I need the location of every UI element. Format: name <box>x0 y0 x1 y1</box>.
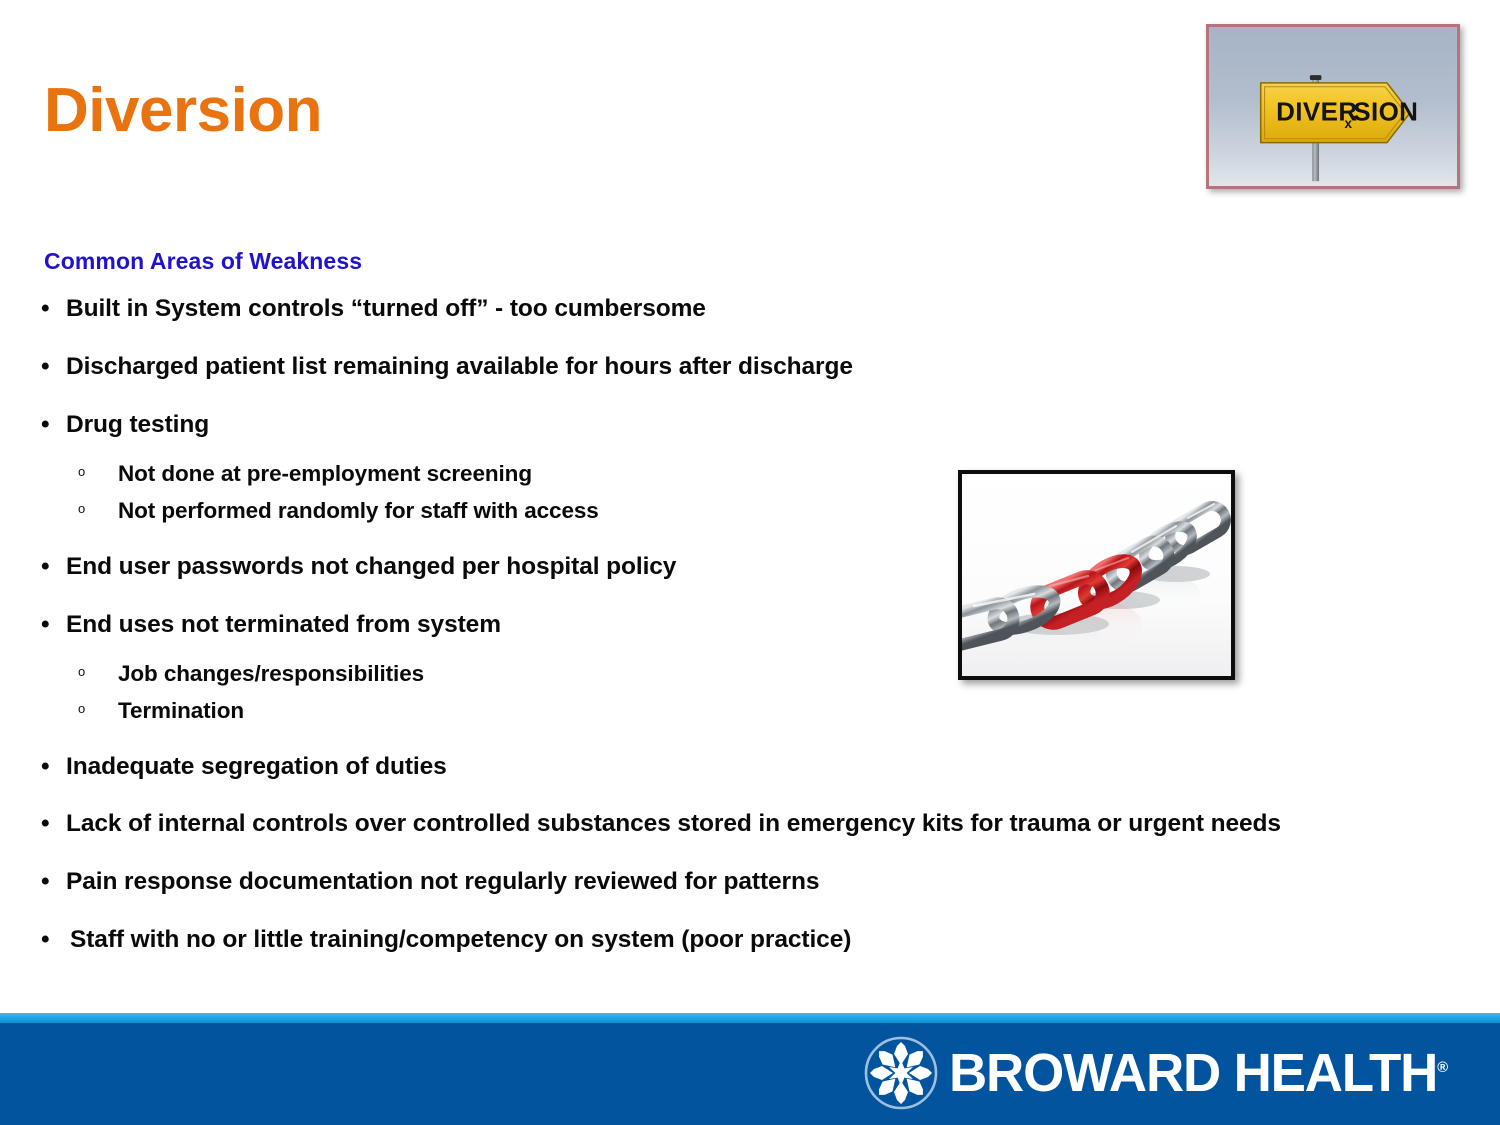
bullet-marker: • <box>41 810 49 839</box>
chain-weak-link-image <box>958 470 1235 680</box>
bullet-item: • Staff with no or little training/compe… <box>36 926 1456 955</box>
bullet-text: Built in System controls “turned off” - … <box>66 295 706 322</box>
sub-bullet-text: Job changes/responsibilities <box>118 661 424 686</box>
sub-bullet-marker: o <box>78 665 85 678</box>
sub-bullet-item: o Termination <box>36 697 1456 724</box>
brand-name-text: BROWARD HEALTH <box>949 1043 1437 1103</box>
slide-canvas: Diversion <box>0 0 1500 1125</box>
page-title: Diversion <box>44 78 322 143</box>
svg-text:SION: SION <box>1353 96 1418 126</box>
sub-bullet-text: Termination <box>118 698 244 723</box>
bullet-item: • End uses not terminated from system <box>36 611 1456 640</box>
footer-accent-stripe <box>0 1013 1500 1023</box>
bullet-marker: • <box>41 868 49 897</box>
bullet-marker: • <box>41 753 49 782</box>
bullet-item: • End user passwords not changed per hos… <box>36 553 1456 582</box>
bullet-text: Lack of internal controls over controlle… <box>66 810 1281 837</box>
svg-text:x: x <box>1345 116 1353 131</box>
broward-star-emblem-icon <box>863 1035 939 1111</box>
bullet-marker: • <box>41 611 49 640</box>
bullet-text: Inadequate segregation of duties <box>66 753 447 780</box>
sub-bullet-marker: o <box>78 702 85 715</box>
broward-health-logo: BROWARD HEALTH® <box>863 1032 1458 1114</box>
section-subheading: Common Areas of Weakness <box>44 248 362 275</box>
bullet-item: • Pain response documentation not regula… <box>36 868 1456 897</box>
diversion-sign-graphic: DIVER SION x <box>1209 27 1457 186</box>
weakness-bullet-list: • Built in System controls “turned off” … <box>36 295 1456 984</box>
bullet-marker: • <box>41 411 49 440</box>
bullet-item: • Built in System controls “turned off” … <box>36 295 1456 324</box>
bullet-text: Pain response documentation not regularl… <box>66 868 819 895</box>
bullet-item: • Lack of internal controls over control… <box>36 810 1456 839</box>
bullet-text: Discharged patient list remaining availa… <box>66 353 853 380</box>
sub-bullet-item: o Not done at pre-employment screening <box>36 460 1456 487</box>
sub-bullet-item: o Job changes/responsibilities <box>36 660 1456 687</box>
sub-bullet-text: Not done at pre-employment screening <box>118 461 532 486</box>
sub-bullet-marker: o <box>78 465 85 478</box>
bullet-marker: • <box>41 353 49 382</box>
bullet-text: End user passwords not changed per hospi… <box>66 553 676 580</box>
bullet-item: • Discharged patient list remaining avai… <box>36 353 1456 382</box>
registered-mark: ® <box>1437 1059 1448 1076</box>
bullet-text: Drug testing <box>66 411 209 438</box>
chain-graphic <box>962 474 1231 676</box>
broward-health-wordmark: BROWARD HEALTH® <box>949 1046 1448 1100</box>
sub-bullet-marker: o <box>78 502 85 515</box>
sub-bullet-item: o Not performed randomly for staff with … <box>36 497 1456 524</box>
bullet-item: • Drug testing <box>36 411 1456 440</box>
bullet-item: • Inadequate segregation of duties <box>36 753 1456 782</box>
bullet-marker: • <box>41 295 49 324</box>
bullet-marker: • <box>41 926 49 955</box>
bullet-text: End uses not terminated from system <box>66 611 501 638</box>
bullet-marker: • <box>41 553 49 582</box>
diversion-sign-image: DIVER SION x <box>1206 24 1460 189</box>
bullet-text: Staff with no or little training/compete… <box>70 926 851 953</box>
sub-bullet-text: Not performed randomly for staff with ac… <box>118 498 599 523</box>
